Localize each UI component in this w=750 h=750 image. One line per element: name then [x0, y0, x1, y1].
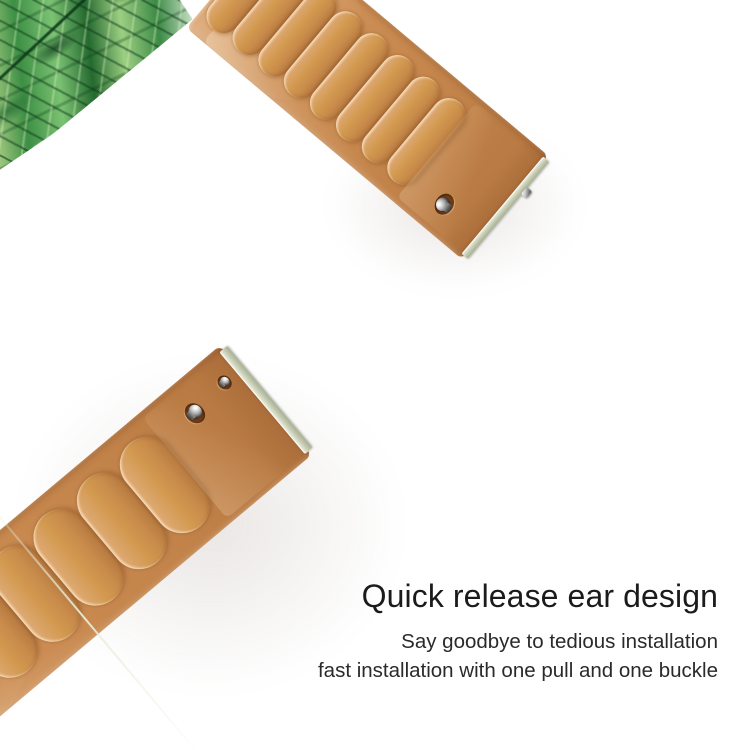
upper-silicone-band[interactable] — [186, 0, 549, 259]
caption-subtitle-line-2: fast installation with one pull and one … — [318, 657, 718, 684]
caption-subtitle-line-1: Say goodbye to tedious installation — [318, 628, 718, 655]
caption-title: Quick release ear design — [318, 578, 718, 614]
lower-silicone-band[interactable] — [0, 345, 312, 750]
caption-block: Quick release ear design Say goodbye to … — [318, 578, 718, 684]
product-photo-canvas: Quick release ear design Say goodbye to … — [0, 0, 750, 750]
lower-band-rib-strip — [0, 423, 223, 750]
